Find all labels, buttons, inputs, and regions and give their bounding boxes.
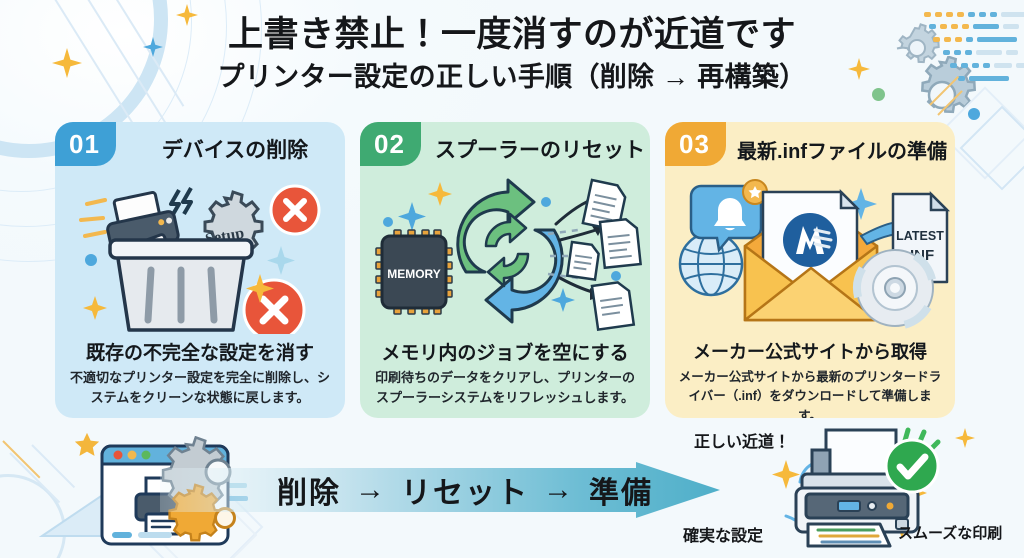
memory-chip-label: MEMORY [387, 267, 441, 281]
step-description-2: 印刷待ちのデータをクリアし、プリンターのスプーラーシステムをリフレッシュします。 [372, 368, 638, 408]
diagonal-line-decor [937, 90, 962, 115]
step-number-badge-2: 02 [360, 122, 421, 166]
label-smooth-printing: スムーズな印刷 [898, 522, 1002, 543]
flow-arrow-1: → [355, 473, 387, 507]
step-title-3: 最新.infファイルの準備 [737, 130, 947, 168]
trash-printer-illustration: Setup [55, 174, 345, 334]
header: 上書き禁止！一度消すのが近道です プリンター設定の正しい手順（削除 → 再構築） [0, 14, 1024, 94]
arc-decor [0, 474, 66, 558]
step-lead-3: メーカー公式サイトから取得 [673, 338, 947, 364]
step-card-1[interactable]: 01 デバイスの削除 [55, 122, 345, 418]
label-reliable-setting: 確実な設定 [683, 522, 763, 546]
red-x-icon [271, 186, 319, 234]
step-number-badge-1: 01 [55, 122, 116, 166]
memory-refresh-illustration: MEMORY [360, 174, 650, 334]
diamond-decor [960, 106, 1024, 191]
step-number-badge-3: 03 [665, 122, 726, 166]
label-correct-shortcut: 正しい近道！ [694, 428, 790, 452]
dot-decor [968, 108, 980, 120]
step-card-3[interactable]: 03 最新.infファイルの準備 [665, 122, 955, 418]
diagonal-line-decor [31, 444, 75, 488]
step-description-3: メーカー公式サイトから最新のプリンタードライバー（.inf）をダウンロードして準… [677, 368, 943, 418]
latest-inf-line1: LATEST [896, 229, 944, 243]
envelope-download-illustration: LATEST .INF [665, 174, 955, 334]
infographic-canvas: 上書き禁止！一度消すのが近道です プリンター設定の正しい手順（削除 → 再構築）… [0, 0, 1024, 558]
step-title-1: デバイスの削除 [133, 130, 337, 168]
page-title: 上書き禁止！一度消すのが近道です [0, 14, 1024, 55]
diagonal-line-decor [2, 440, 40, 478]
step-card-2[interactable]: 02 スプーラーのリセット [360, 122, 650, 418]
flow-step-2: リセット [401, 468, 529, 512]
page-subtitle: プリンター設定の正しい手順（削除 → 再構築） [0, 61, 1024, 93]
step-title-2: スプーラーのリセット [438, 130, 642, 168]
step-lead-2: メモリ内のジョブを空にする [368, 338, 642, 365]
green-check-icon [886, 440, 938, 492]
flow-step-1: 削除 [277, 468, 341, 512]
flow-step-3: 準備 [589, 468, 653, 512]
diagonal-line-decor [9, 452, 60, 503]
flow-arrow-2: → [543, 473, 575, 507]
flow-steps-text: 削除 → リセット → 準備 [255, 470, 675, 510]
step-description-1: 不適切なプリンター設定を完全に削除し、システムをクリーンな状態に戻します。 [67, 368, 333, 408]
step-lead-1: 既存の不完全な設定を消す [63, 338, 337, 365]
globe-icon [680, 233, 742, 295]
